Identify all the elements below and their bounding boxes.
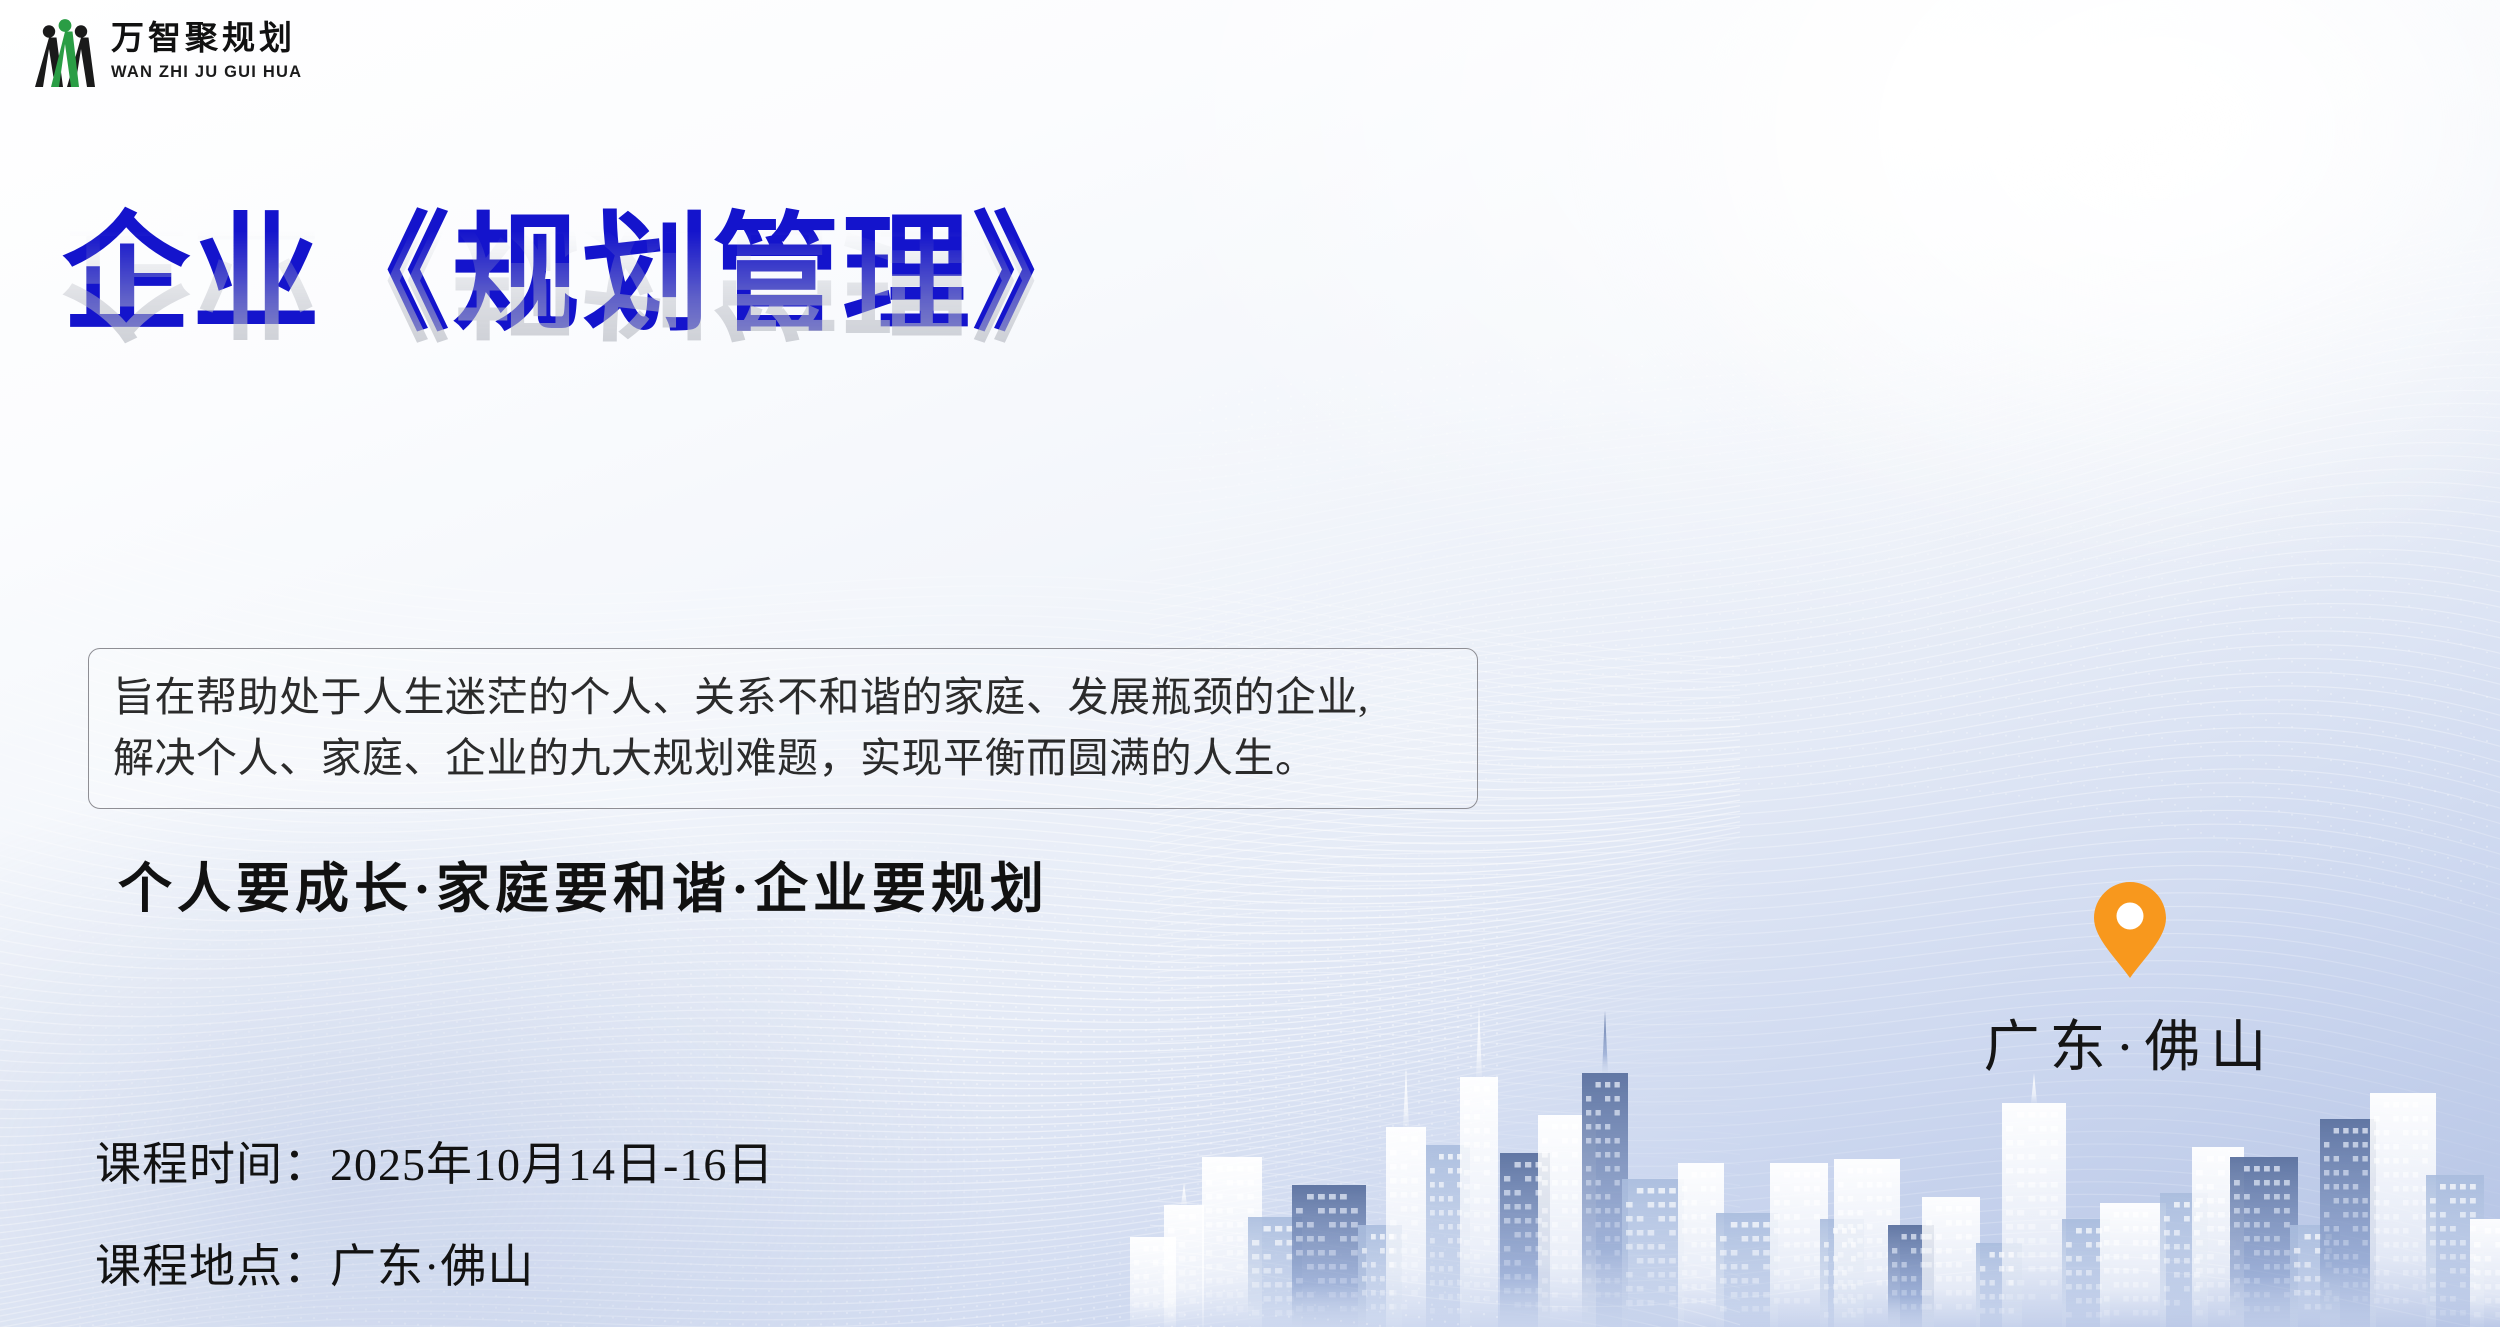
brand-logo: 万智聚规划 WAN ZHI JU GUI HUA <box>33 16 302 88</box>
description-box: 旨在帮助处于人生迷茫的个人、关系不和谐的家庭、发展瓶颈的企业, 解决个人、家庭、… <box>88 648 1478 809</box>
title-reflection: 企业《规划管理》 <box>62 226 1062 344</box>
logo-chinese-name: 万智聚规划 <box>111 23 302 56</box>
location-label: 广东·佛山 <box>1950 1002 2310 1083</box>
description-line-1: 旨在帮助处于人生迷茫的个人、关系不和谐的家庭、发展瓶颈的企业, <box>113 667 1455 728</box>
poster-canvas: 万智聚规划 WAN ZHI JU GUI HUA 企业《规划管理》 企业《规划管… <box>0 0 2500 1327</box>
logo-text-block: 万智聚规划 WAN ZHI JU GUI HUA <box>111 23 302 81</box>
slogan-text: 个人要成长·家庭要和谐·企业要规划 <box>118 844 1049 923</box>
logo-pinyin: WAN ZHI JU GUI HUA <box>111 64 302 81</box>
course-date: 课程时间：2025年10月14日-16日 <box>95 1128 774 1194</box>
three-people-logo-icon <box>33 16 97 88</box>
map-pin-icon <box>2092 880 2168 980</box>
location-block: 广东·佛山 <box>1950 880 2310 1083</box>
course-info-block: 课程时间：2025年10月14日-16日 课程地点：广东·佛山 <box>95 1128 774 1296</box>
description-line-2: 解决个人、家庭、企业的九大规划难题，实现平衡而圆满的人生。 <box>113 728 1455 789</box>
course-place: 课程地点：广东·佛山 <box>95 1230 774 1296</box>
title-section: 企业《规划管理》 企业《规划管理》 <box>62 206 1062 462</box>
top-right-glow <box>1560 0 2500 580</box>
